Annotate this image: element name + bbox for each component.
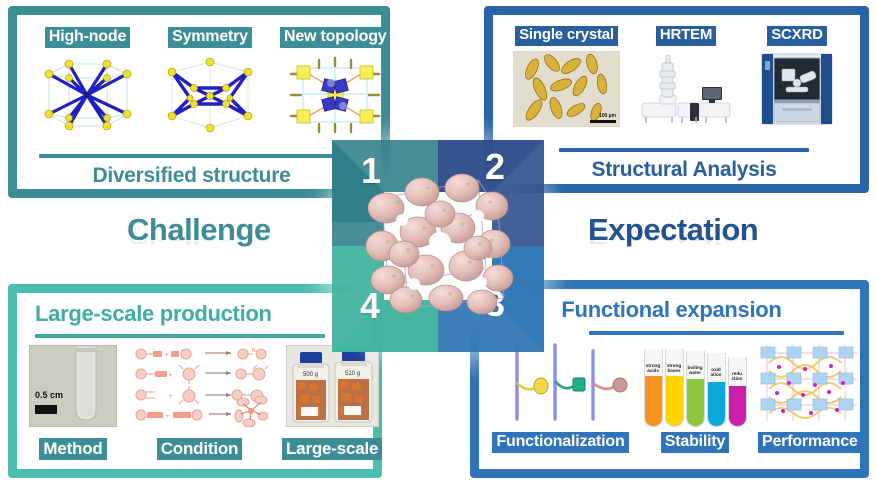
tile-label-hrtem: HRTEM — [656, 26, 716, 46]
svg-text:+: + — [166, 414, 170, 420]
symmetry-cube-net-icon — [160, 54, 260, 136]
tile-condition: + N — [131, 345, 268, 460]
scale-bar-label-crystal: 100 µm — [599, 113, 616, 119]
tube-label-1: strong bases — [664, 363, 685, 374]
test-tube-strong-bases: strong bases — [665, 349, 684, 427]
tube-label-3: oxid ation — [706, 367, 727, 378]
tile-label-single-crystal: Single crystal — [515, 26, 618, 46]
label-expectation: Expectation Expectation — [588, 212, 758, 248]
molecular-framework-model — [358, 158, 518, 320]
test-tube-oxidation: oxid ation — [707, 353, 726, 427]
divider-large-scale — [35, 334, 325, 338]
tile-label-large-scale: Large-scale — [282, 438, 382, 460]
scale-bar-line-method — [35, 405, 57, 414]
test-tube-boiling-water: boiling water — [686, 351, 705, 427]
divider-structural — [559, 148, 809, 152]
svg-text:+: + — [169, 373, 173, 379]
tile-label-method: Method — [39, 438, 106, 460]
tile-label-performance: Performance — [758, 432, 862, 453]
label-challenge: Challenge Challenge — [127, 212, 271, 248]
tile-scxrd: SCXRD — [752, 26, 842, 127]
figure-canvas: High-node — [0, 0, 877, 485]
tile-label-high-node: High-node — [45, 27, 130, 48]
tile-method: 0.5 cm Method — [29, 345, 117, 460]
test-tube-group: strong acids strong bases — [644, 349, 747, 427]
label-expectation-text: Expectation — [588, 212, 758, 247]
diffractometer-photo-icon — [752, 51, 842, 127]
svg-text:+: + — [169, 394, 173, 400]
tile-performance: Performance — [758, 339, 862, 453]
tube-label-0: strong acids — [643, 363, 664, 374]
scale-bar-line-crystal — [590, 120, 616, 123]
tile-hrtem: HRTEM — [636, 26, 736, 127]
svg-text:N: N — [252, 348, 256, 354]
tile-label-functionalization: Functionalization — [492, 432, 628, 453]
tile-label-stability: Stability — [661, 432, 729, 453]
divider-functional — [589, 331, 844, 335]
tile-stability: strong acids strong bases — [642, 339, 748, 453]
tile-label-condition: Condition — [157, 438, 243, 460]
electron-microscope-photo-icon — [636, 51, 736, 127]
tile-label-scxrd: SCXRD — [767, 26, 827, 46]
high-node-polyhedron-net-icon — [35, 54, 140, 136]
tile-symmetry: Symmetry — [160, 27, 260, 136]
test-tube-photo-icon: 0.5 cm — [29, 345, 117, 427]
tile-high-node: High-node — [35, 27, 140, 136]
scale-bar-label-method: 0.5 cm — [35, 390, 63, 400]
svg-text:+: + — [165, 353, 169, 359]
tile-label-new-topology: New topology — [280, 27, 390, 48]
central-cycle-hub: 1 2 3 4 — [288, 96, 588, 396]
tube-label-4: redu ction — [727, 371, 748, 382]
test-tube-reduction: redu ction — [728, 357, 747, 427]
tube-label-2: boiling water — [685, 365, 706, 376]
test-tube-strong-acids: strong acids — [644, 349, 663, 427]
framework-lattice-diagram-icon — [759, 339, 861, 427]
tile-label-symmetry: Symmetry — [168, 27, 252, 48]
test-tube-array-icon: strong acids strong bases — [642, 339, 748, 427]
heading-large-scale-production: Large-scale production — [35, 301, 272, 327]
label-challenge-text: Challenge — [127, 212, 271, 247]
reaction-scheme-icon: + N — [131, 345, 268, 427]
